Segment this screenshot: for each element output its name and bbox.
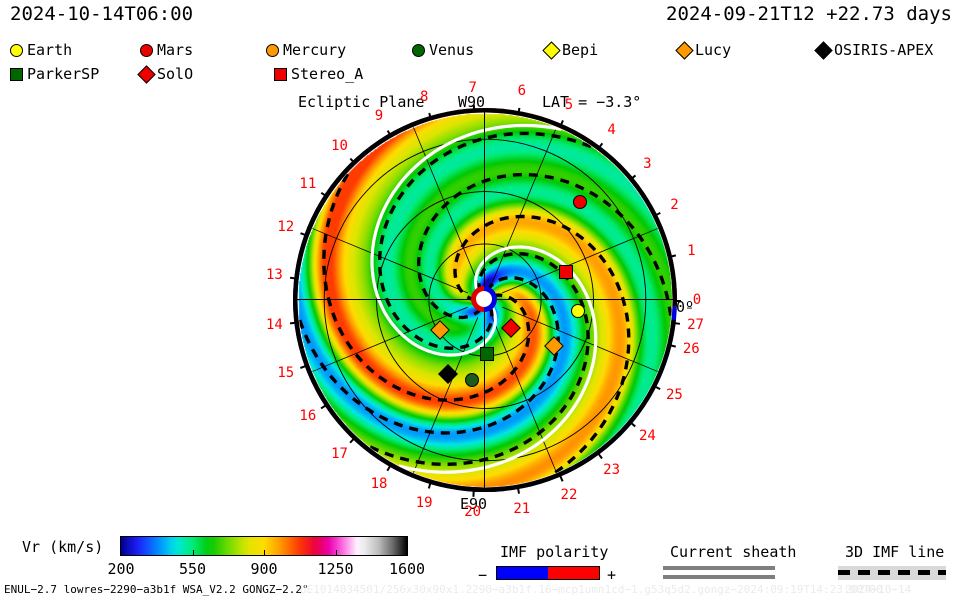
circle-marker-icon: [266, 44, 279, 57]
circle-marker-icon: [140, 44, 153, 57]
footer-watermark: UE1014034501/256x30x90x1.2290−a3b1f.16−m…: [300, 583, 883, 596]
hour-tick-7: 7: [468, 80, 476, 96]
colorbar-tick-900: 900: [250, 560, 277, 578]
hour-tick-4: 4: [607, 122, 615, 138]
legend-label: Venus: [429, 41, 474, 59]
hour-tick-18: 18: [371, 476, 388, 492]
hour-tick-mark: [517, 487, 520, 494]
hour-tick-25: 25: [666, 387, 683, 403]
colorbar-tick-mark: [264, 550, 265, 556]
hour-tick-10: 10: [331, 138, 348, 154]
hour-tick-11: 11: [299, 176, 316, 192]
legend-item-stereo_a[interactable]: Stereo_A: [274, 62, 363, 86]
hour-tick-mark: [473, 105, 475, 112]
body-marker-mars[interactable]: [573, 195, 587, 209]
footer-watermark-date: 2024−10−14: [845, 583, 911, 596]
hour-tick-22: 22: [561, 487, 578, 503]
hour-tick-16: 16: [299, 408, 316, 424]
square-marker-icon: [10, 68, 23, 81]
legend-item-venus[interactable]: Venus: [412, 38, 474, 62]
legend-label: SolO: [157, 65, 193, 83]
hour-tick-mark: [673, 322, 680, 324]
hour-tick-1: 1: [687, 243, 695, 259]
plot-title: Ecliptic Plane: [298, 93, 424, 111]
ecliptic-plane-plot: Ecliptic Plane LAT = −3.3° W90 E90 0º 01…: [280, 95, 690, 505]
colorbar-tick-550: 550: [179, 560, 206, 578]
hour-tick-8: 8: [420, 89, 428, 105]
legend-item-mars[interactable]: Mars: [140, 38, 193, 62]
legend-label: Mars: [157, 41, 193, 59]
colorbar-tick-200: 200: [107, 560, 134, 578]
epoch-offset-label: 2024-09-21T12 +22.73 days: [666, 3, 952, 25]
sun-disc: [476, 291, 492, 307]
hour-tick-24: 24: [639, 428, 656, 444]
current-date-label: 2024-10-14T06:00: [10, 3, 193, 25]
legend-label: Stereo_A: [291, 65, 363, 83]
colorbar-tick-mark: [336, 550, 337, 556]
colorbar-tick-mark: [193, 550, 194, 556]
hour-tick-mark: [674, 300, 681, 302]
legend-label: Bepi: [562, 41, 598, 59]
hour-tick-26: 26: [683, 341, 700, 357]
legend-item-lucy[interactable]: Lucy: [678, 38, 731, 62]
colorbar-tick-1600: 1600: [389, 560, 425, 578]
body-marker-earth[interactable]: [571, 304, 585, 318]
hour-tick-13: 13: [266, 267, 283, 283]
diamond-marker-icon: [675, 41, 693, 59]
current-sheath-swatch: [663, 566, 775, 580]
hour-tick-19: 19: [416, 495, 433, 511]
legend-item-bepi[interactable]: Bepi: [545, 38, 598, 62]
hour-tick-12: 12: [277, 219, 294, 235]
hour-tick-15: 15: [277, 365, 294, 381]
legend-item-parkersp[interactable]: ParkerSP: [10, 62, 99, 86]
legend-label: Mercury: [283, 41, 346, 59]
hour-tick-0: 0: [693, 292, 701, 308]
colorbar-tick-1250: 1250: [317, 560, 353, 578]
latitude-label: LAT = −3.3°: [542, 93, 641, 111]
hour-tick-20: 20: [464, 504, 481, 520]
legend-label: ParkerSP: [27, 65, 99, 83]
body-marker-parkersp[interactable]: [480, 347, 494, 361]
colorbar-title: Vr (km/s): [22, 538, 103, 556]
hour-tick-17: 17: [331, 446, 348, 462]
diamond-marker-icon: [137, 65, 155, 83]
square-marker-icon: [274, 68, 287, 81]
hour-tick-23: 23: [603, 462, 620, 478]
hour-tick-mark: [290, 277, 297, 279]
hour-tick-2: 2: [670, 197, 678, 213]
body-marker-venus[interactable]: [465, 373, 479, 387]
hour-tick-14: 14: [266, 317, 283, 333]
polarity-minus-sign: −: [478, 566, 487, 584]
polarity-plus-sign: +: [607, 566, 616, 584]
legend-item-solo[interactable]: SolO: [140, 62, 193, 86]
polarity-positive-swatch: [548, 567, 599, 579]
hour-tick-mark: [290, 322, 297, 324]
legend-item-osiris-apex[interactable]: OSIRIS-APEX: [817, 38, 933, 62]
legend-label: Earth: [27, 41, 72, 59]
legend-label: Lucy: [695, 41, 731, 59]
footer-model-string: ENUL−2.7 lowres−2290−a3b1f WSA_V2.2 GONG…: [4, 583, 309, 596]
polarity-negative-swatch: [497, 567, 548, 579]
legend-label: OSIRIS-APEX: [834, 41, 933, 59]
imf-polarity-title: IMF polarity: [500, 543, 608, 561]
hour-tick-9: 9: [375, 108, 383, 124]
wsa-enlil-solar-wind-plot: 2024-10-14T06:00 2024-09-21T12 +22.73 da…: [0, 0, 960, 600]
hour-tick-27: 27: [687, 317, 704, 333]
body-marker-stereo_a[interactable]: [559, 265, 573, 279]
legend-item-mercury[interactable]: Mercury: [266, 38, 346, 62]
imf-line-title: 3D IMF line: [845, 543, 944, 561]
imf-polarity-bar: [496, 566, 600, 580]
circle-marker-icon: [10, 44, 23, 57]
circle-marker-icon: [412, 44, 425, 57]
hour-tick-3: 3: [643, 156, 651, 172]
legend-item-earth[interactable]: Earth: [10, 38, 72, 62]
current-sheath-title: Current sheath: [670, 543, 796, 561]
hour-tick-21: 21: [513, 501, 530, 517]
imf-line-swatch: [838, 566, 946, 580]
hour-tick-6: 6: [518, 83, 526, 99]
diamond-marker-icon: [542, 41, 560, 59]
diamond-marker-icon: [814, 41, 832, 59]
hour-tick-5: 5: [565, 97, 573, 113]
